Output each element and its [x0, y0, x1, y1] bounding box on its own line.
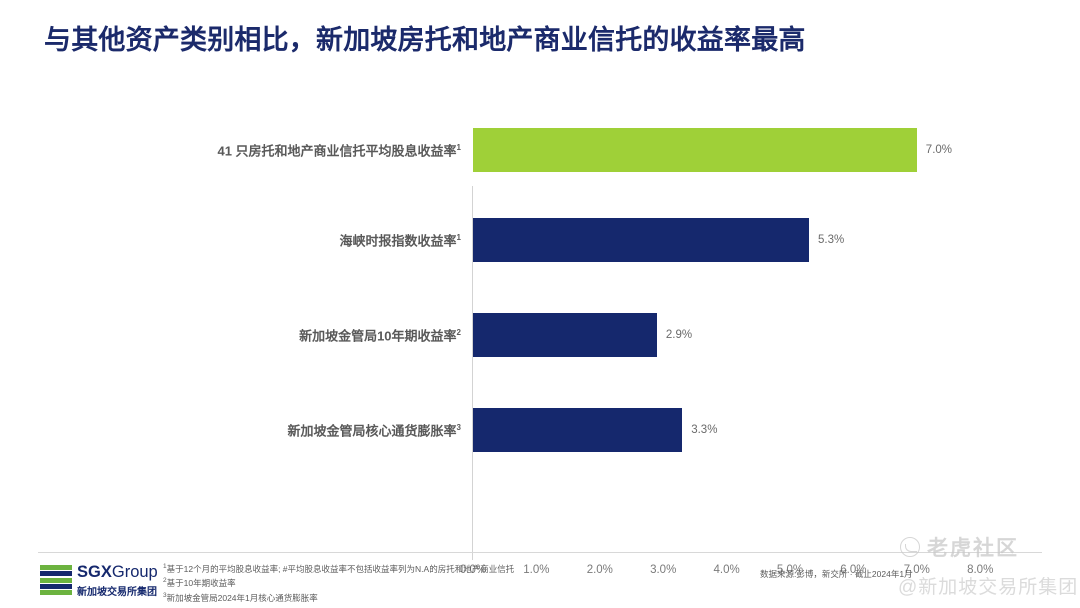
bar-chart: 7.0%41 只房托和地产商业信托平均股息收益率15.3%海峡时报指数收益率12…	[0, 86, 1080, 516]
bar-value-label: 2.9%	[666, 329, 692, 341]
page-title: 与其他资产类别相比，新加坡房托和地产商业信托的收益率最高	[44, 18, 1044, 57]
bar	[473, 218, 809, 262]
x-tick-label: 3.0%	[650, 564, 676, 576]
bar	[473, 408, 682, 452]
footer-divider	[38, 552, 1042, 553]
sgx-logo-name-light: Group	[112, 563, 158, 581]
bar-value-label: 3.3%	[691, 424, 717, 436]
x-tick-label: 2.0%	[587, 564, 613, 576]
sgx-logo-subtitle: 新加坡交易所集团	[77, 583, 157, 598]
bar-row: 2.9%新加坡金管局10年期收益率2	[473, 313, 980, 357]
bar	[473, 313, 657, 357]
sgx-logo-mark-icon	[40, 565, 72, 595]
bar	[473, 128, 917, 172]
tiger-circle-icon	[900, 537, 920, 557]
category-label: 新加坡金管局10年期收益率2	[299, 326, 461, 345]
x-tick-label: 8.0%	[967, 564, 993, 576]
bar-value-label: 5.3%	[818, 234, 844, 246]
sgx-logo-text: SGXGroup	[77, 563, 158, 582]
bar-value-label: 7.0%	[926, 144, 952, 156]
watermark-tiger-text: 老虎社区	[927, 532, 1019, 562]
bar-row: 7.0%41 只房托和地产商业信托平均股息收益率1	[473, 128, 980, 172]
footnote-line: 1基于12个月的平均股息收益率; #平均股息收益率不包括收益率列为N.A的房托和…	[163, 561, 514, 575]
bar-row: 5.3%海峡时报指数收益率1	[473, 218, 980, 262]
source-text: 数据来源:彭博，新交所 · 截止2024年1月	[760, 568, 913, 580]
x-tick-label: 1.0%	[523, 564, 549, 576]
sgx-logo-name-bold: SGX	[77, 563, 112, 581]
bar-row: 3.3%新加坡金管局核心通货膨胀率3	[473, 408, 980, 452]
watermark-tiger: 老虎社区	[900, 532, 1019, 562]
sgx-logo: SGXGroup 新加坡交易所集团	[40, 563, 162, 599]
category-label: 41 只房托和地产商业信托平均股息收益率1	[217, 141, 461, 160]
category-label: 海峡时报指数收益率1	[340, 231, 461, 250]
footnote-line: 3新加坡金管局2024年1月核心通货膨胀率	[163, 590, 514, 604]
footnote-line: 2基于10年期收益率	[163, 575, 514, 589]
footnotes: 1基于12个月的平均股息收益率; #平均股息收益率不包括收益率列为N.A的房托和…	[163, 561, 514, 604]
x-axis-ticks: 0.0%1.0%2.0%3.0%4.0%5.0%6.0%7.0%8.0%	[0, 564, 1080, 584]
plot-area: 7.0%41 只房托和地产商业信托平均股息收益率15.3%海峡时报指数收益率12…	[0, 86, 1080, 486]
x-tick-label: 4.0%	[713, 564, 739, 576]
category-label: 新加坡金管局核心通货膨胀率3	[288, 421, 461, 440]
